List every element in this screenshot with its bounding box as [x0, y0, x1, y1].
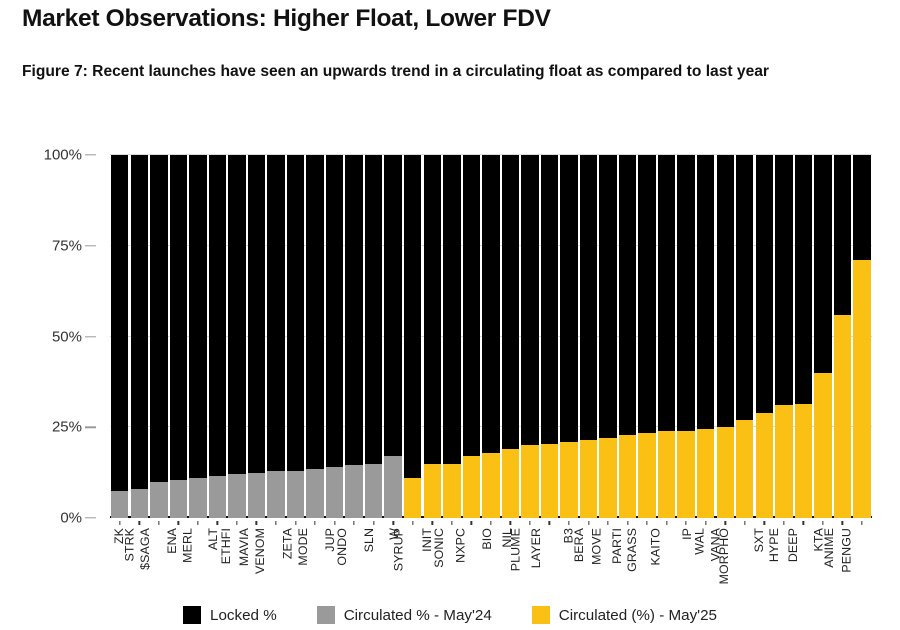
bar-segment-may24 — [248, 473, 265, 518]
x-axis-tick-mark — [178, 521, 179, 525]
y-axis-tick-mark — [85, 154, 96, 155]
x-axis-tick: NXPC — [463, 521, 480, 599]
legend-label: Locked % — [210, 607, 277, 624]
x-axis-tick-mark — [119, 521, 120, 525]
x-axis-tick-mark — [510, 521, 511, 525]
bar-column[interactable] — [287, 155, 304, 518]
bar-segment-may24 — [267, 471, 284, 518]
bar-column[interactable] — [814, 155, 831, 518]
bar-column[interactable] — [267, 155, 284, 518]
bar-column[interactable] — [248, 155, 265, 518]
bar-segment-locked — [111, 155, 128, 491]
bar-segment-locked — [814, 155, 831, 373]
x-axis-tick-label: ETHFI — [219, 528, 233, 564]
x-axis-tick-label: MODE — [296, 528, 310, 566]
legend-may25[interactable]: Circulated (%) - May'25 — [532, 606, 717, 624]
x-axis-tick-mark — [725, 521, 726, 525]
bar-segment-may25 — [834, 315, 851, 518]
x-axis-tick: MODE — [306, 521, 323, 599]
x-axis-tick-mark — [197, 521, 198, 525]
bar-segment-may25 — [580, 440, 597, 518]
y-axis-tick-label: 75% — [52, 237, 82, 254]
x-axis-tick-mark — [295, 521, 296, 525]
x-axis-tick-mark — [432, 521, 433, 525]
x-axis-tick-mark — [393, 521, 394, 525]
legend-swatch-icon — [317, 606, 335, 624]
y-axis: 0%25%50%75%100% — [0, 155, 100, 518]
bar-column[interactable] — [502, 155, 519, 518]
bar-segment-may25 — [502, 449, 519, 518]
x-axis-tick-label: SLN — [361, 528, 375, 552]
bar-column[interactable] — [463, 155, 480, 518]
bar-segment-may25 — [424, 464, 441, 518]
bar-segment-may25 — [717, 427, 734, 518]
x-axis-tick-label: PARTI — [610, 528, 624, 564]
x-axis-tick-label: VENOM — [253, 528, 267, 574]
bar-segment-may24 — [170, 480, 187, 518]
y-axis-tick-mark — [85, 245, 96, 246]
bar-column[interactable] — [482, 155, 499, 518]
x-axis-tick: BIO — [482, 521, 499, 599]
x-axis-tick-mark — [607, 521, 608, 525]
bar-segment-locked — [248, 155, 265, 473]
x-axis-tick-label: ANIME — [823, 528, 837, 568]
x-axis-tick-mark — [822, 521, 823, 525]
figure-subtitle: Figure 7: Recent launches have seen an u… — [22, 60, 832, 83]
bar-segment-locked — [482, 155, 499, 453]
x-axis-tick-label: BIO — [480, 528, 494, 550]
x-axis-tick-label: MAVIA — [237, 528, 251, 566]
x-axis-tick-label: NXPC — [454, 528, 468, 563]
x-axis-tick-label: ONDO — [335, 528, 349, 566]
bar-segment-locked — [463, 155, 480, 456]
bar-segment-may25 — [697, 429, 714, 518]
chart-page: Market Observations: Higher Float, Lower… — [0, 0, 900, 630]
x-axis-tick: SLN — [365, 521, 382, 599]
bar-segment-locked — [150, 155, 167, 482]
bar-segment-may25 — [638, 433, 655, 518]
x-axis-tick-mark — [236, 521, 237, 525]
bar-column[interactable] — [560, 155, 577, 518]
bar-segment-locked — [170, 155, 187, 480]
y-axis-tick-mark — [85, 427, 96, 428]
x-axis-tick: DEEP — [795, 521, 812, 599]
x-axis-tick-mark — [686, 521, 687, 525]
bar-column[interactable] — [345, 155, 362, 518]
bar-column[interactable] — [756, 155, 773, 518]
bar-segment-may25 — [775, 405, 792, 518]
x-axis-tick-label: HYPE — [767, 528, 781, 562]
x-axis-tick-label: SYRUP — [391, 528, 405, 571]
x-axis-tick-mark — [764, 521, 765, 525]
bar-segment-locked — [658, 155, 675, 431]
bar-segment-locked — [521, 155, 538, 445]
bar-segment-locked — [189, 155, 206, 478]
y-axis-tick-label: 25% — [52, 419, 82, 436]
x-axis-tick-mark — [705, 521, 706, 525]
x-axis-tick-label: KAITO — [648, 528, 662, 565]
legend-locked[interactable]: Locked % — [183, 606, 277, 624]
legend-label: Circulated % - May'24 — [344, 607, 492, 624]
bar-segment-locked — [404, 155, 421, 478]
x-axis-tick-mark — [744, 521, 745, 525]
bar-column[interactable] — [131, 155, 148, 518]
bar-segment-may25 — [756, 413, 773, 518]
bar-segment-locked — [443, 155, 460, 464]
bar-segment-locked — [365, 155, 382, 464]
bar-segment-locked — [795, 155, 812, 404]
x-axis-tick-mark — [588, 521, 589, 525]
bar-column[interactable] — [658, 155, 675, 518]
bar-segment-may24 — [287, 471, 304, 518]
bar-segment-may25 — [814, 373, 831, 518]
y-axis-tick-mark — [85, 336, 96, 337]
legend-label: Circulated (%) - May'25 — [559, 607, 717, 624]
bar-column[interactable] — [677, 155, 694, 518]
x-axis-tick-label: PLUME — [508, 528, 522, 571]
bar-segment-locked — [717, 155, 734, 427]
x-axis-tick-label: $SAGA — [138, 528, 152, 570]
bar-column[interactable] — [189, 155, 206, 518]
x-axis-tick-mark — [549, 521, 550, 525]
bar-column[interactable] — [619, 155, 636, 518]
bar-segment-locked — [638, 155, 655, 433]
bar-column[interactable] — [170, 155, 187, 518]
bar-column[interactable] — [306, 155, 323, 518]
x-axis-tick: ONDO — [345, 521, 362, 599]
bar-column[interactable] — [795, 155, 812, 518]
bar-segment-locked — [853, 155, 870, 260]
bar-segment-may24 — [189, 478, 206, 518]
bar-segment-locked — [345, 155, 362, 465]
bar-segment-may25 — [560, 442, 577, 518]
bar-segment-locked — [756, 155, 773, 413]
bar-series-group — [110, 155, 872, 518]
x-axis-tick: MERL — [189, 521, 206, 599]
x-axis-tick-label: GRASS — [625, 528, 639, 572]
bar-segment-may25 — [404, 478, 421, 518]
x-axis-tick-mark — [275, 521, 276, 525]
bar-segment-may25 — [619, 435, 636, 518]
bar-segment-may25 — [482, 453, 499, 518]
x-axis-tick-label: ENA — [165, 528, 179, 554]
bar-segment-may24 — [345, 465, 362, 518]
bar-segment-locked — [287, 155, 304, 471]
x-axis-tick-mark — [842, 521, 843, 525]
bar-segment-may25 — [443, 464, 460, 518]
x-axis-tick-mark — [412, 521, 413, 525]
x-axis-tick-label: DEEP — [786, 528, 800, 562]
bar-segment-locked — [834, 155, 851, 315]
bar-column[interactable] — [384, 155, 401, 518]
bar-segment-may24 — [228, 474, 245, 518]
x-axis-tick-mark — [353, 521, 354, 525]
bar-segment-may24 — [384, 456, 401, 518]
bar-segment-may25 — [736, 420, 753, 518]
x-axis-tick-label: LAYER — [529, 528, 543, 568]
bar-segment-locked — [775, 155, 792, 405]
x-axis-tick: LAYER — [541, 521, 558, 599]
x-axis-tick-mark — [529, 521, 530, 525]
x-axis-tick-mark — [451, 521, 452, 525]
x-axis-tick-mark — [158, 521, 159, 525]
x-axis-tick: KAITO — [658, 521, 675, 599]
bar-column[interactable] — [697, 155, 714, 518]
bar-segment-locked — [697, 155, 714, 429]
bar-segment-locked — [424, 155, 441, 464]
bar-segment-may24 — [131, 489, 148, 518]
x-axis-tick-label: SXT — [752, 528, 766, 552]
bar-column[interactable] — [853, 155, 870, 518]
bar-segment-may25 — [463, 456, 480, 518]
bar-segment-locked — [677, 155, 694, 431]
bar-segment-may25 — [853, 260, 870, 518]
x-axis-tick-label: WAL — [692, 528, 706, 555]
bar-column[interactable] — [443, 155, 460, 518]
bar-column[interactable] — [424, 155, 441, 518]
x-axis-tick-label: MERL — [180, 528, 194, 563]
x-axis-tick-mark — [490, 521, 491, 525]
bar-column[interactable] — [541, 155, 558, 518]
chart-legend: Locked %Circulated % - May'24Circulated … — [0, 606, 900, 624]
x-axis-tick-label: MORPHO — [717, 528, 731, 584]
bar-segment-locked — [580, 155, 597, 440]
x-axis-tick-mark — [334, 521, 335, 525]
bar-segment-may25 — [521, 445, 538, 518]
x-axis-tick-mark — [217, 521, 218, 525]
x-axis-tick-mark — [861, 521, 862, 525]
bar-column[interactable] — [717, 155, 734, 518]
bar-segment-may24 — [150, 482, 167, 518]
x-axis-tick-mark — [646, 521, 647, 525]
bar-segment-may24 — [365, 464, 382, 518]
bar-column[interactable] — [150, 155, 167, 518]
bar-column[interactable] — [228, 155, 245, 518]
bar-segment-locked — [384, 155, 401, 456]
bar-segment-may25 — [541, 444, 558, 518]
bar-segment-locked — [599, 155, 616, 438]
bar-column[interactable] — [326, 155, 343, 518]
bar-segment-may24 — [326, 467, 343, 518]
bar-segment-locked — [306, 155, 323, 469]
x-axis-tick-mark — [803, 521, 804, 525]
x-axis-tick-label: ZETA — [280, 528, 294, 559]
x-axis-tick-label: PENGU — [840, 528, 854, 573]
x-axis-tick-mark — [666, 521, 667, 525]
bar-column[interactable] — [599, 155, 616, 518]
bar-column[interactable] — [404, 155, 421, 518]
bar-segment-locked — [619, 155, 636, 435]
x-axis-tick-mark — [256, 521, 257, 525]
plot-area — [110, 155, 872, 518]
x-axis-tick-mark — [783, 521, 784, 525]
bar-segment-may24 — [209, 476, 226, 518]
x-axis-tick-label: BERA — [571, 528, 585, 562]
x-axis-tick-mark — [627, 521, 628, 525]
bar-segment-may25 — [795, 404, 812, 518]
legend-may24[interactable]: Circulated % - May'24 — [317, 606, 492, 624]
bar-column[interactable] — [638, 155, 655, 518]
x-axis-tick-label: MOVE — [590, 528, 604, 565]
bar-column[interactable] — [834, 155, 851, 518]
x-axis-tick-mark — [139, 521, 140, 525]
y-axis-tick-label: 0% — [60, 510, 82, 527]
bar-column[interactable] — [111, 155, 128, 518]
bar-column[interactable] — [736, 155, 753, 518]
bar-segment-locked — [736, 155, 753, 420]
bar-segment-may25 — [599, 438, 616, 518]
page-title: Market Observations: Higher Float, Lower… — [22, 5, 551, 33]
y-axis-tick-label: 50% — [52, 328, 82, 345]
legend-swatch-icon — [183, 606, 201, 624]
bar-column[interactable] — [521, 155, 538, 518]
bar-segment-locked — [541, 155, 558, 444]
bar-segment-may25 — [677, 431, 694, 518]
y-axis-tick-mark — [85, 517, 96, 518]
x-axis-tick-mark — [314, 521, 315, 525]
legend-swatch-icon — [532, 606, 550, 624]
bar-segment-may25 — [658, 431, 675, 518]
bar-segment-locked — [502, 155, 519, 449]
x-axis-tick: PENGU — [853, 521, 870, 599]
bar-segment-locked — [326, 155, 343, 467]
bar-segment-locked — [209, 155, 226, 476]
bar-segment-may24 — [306, 469, 323, 518]
x-axis-tick-label: SONIC — [432, 528, 446, 568]
bar-segment-locked — [228, 155, 245, 474]
x-axis: ZKSTRK$SAGAENAMERLALTETHFIMAVIAVENOMZETA… — [110, 521, 872, 599]
x-axis-tick-label: STRK — [123, 528, 137, 561]
bar-column[interactable] — [580, 155, 597, 518]
bar-segment-locked — [560, 155, 577, 442]
y-axis-tick-label: 100% — [44, 147, 82, 164]
bar-column[interactable] — [365, 155, 382, 518]
bar-segment-locked — [131, 155, 148, 489]
x-axis-tick-mark — [471, 521, 472, 525]
bar-column[interactable] — [209, 155, 226, 518]
x-axis-tick: SYRUP — [404, 521, 421, 599]
bar-segment-locked — [267, 155, 284, 471]
bar-column[interactable] — [775, 155, 792, 518]
x-axis-tick-mark — [373, 521, 374, 525]
x-axis-tick-mark — [568, 521, 569, 525]
bar-segment-may24 — [111, 491, 128, 518]
